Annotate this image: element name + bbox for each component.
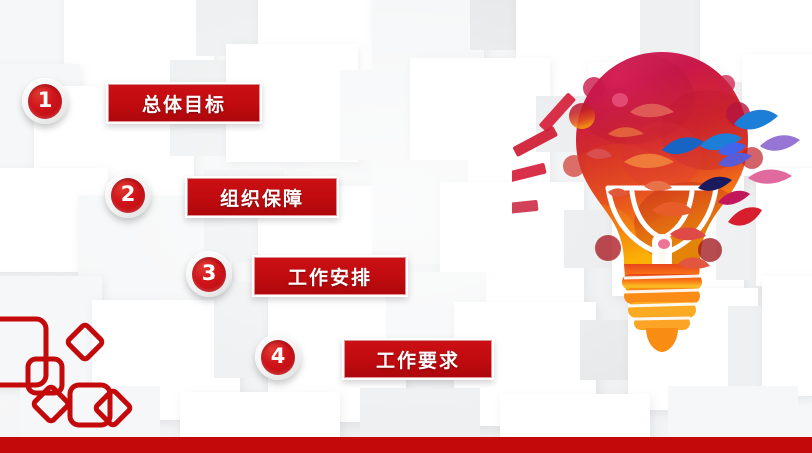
agenda-number-badge-2[interactable]: 2	[105, 172, 151, 218]
agenda-row-1[interactable]: 1 总体目标	[0, 78, 300, 124]
light-rays	[512, 92, 576, 215]
agenda-number-3: 3	[192, 257, 226, 292]
agenda-number-4: 4	[261, 340, 295, 375]
agenda-number-2: 2	[111, 178, 145, 213]
lightbulb-illustration	[512, 38, 812, 368]
agenda-number-1: 1	[28, 84, 62, 119]
agenda-number-badge-3[interactable]: 3	[186, 251, 232, 297]
agenda-number-badge-1[interactable]: 1	[22, 78, 68, 124]
agenda-label-4: 工作要求	[344, 340, 492, 378]
bottom-accent-bar	[0, 437, 812, 453]
agenda-row-3[interactable]: 3 工作安排	[0, 251, 450, 297]
agenda-label-2: 组织保障	[187, 178, 337, 216]
agenda-row-2[interactable]: 2 组织保障	[0, 172, 380, 218]
corner-decoration	[0, 307, 150, 437]
slide-canvas: 1 总体目标 2 组织保障 3 工作安排 4 工作要求	[0, 0, 812, 453]
agenda-banner-1[interactable]: 总体目标	[106, 82, 262, 124]
agenda-label-3: 工作安排	[254, 257, 406, 295]
agenda-banner-4[interactable]: 工作要求	[342, 338, 494, 380]
agenda-number-badge-4[interactable]: 4	[255, 334, 301, 380]
agenda-banner-3[interactable]: 工作安排	[252, 255, 408, 297]
deco-diamond-right	[95, 390, 132, 427]
agenda-label-1: 总体目标	[108, 84, 260, 122]
deco-square-large	[0, 319, 46, 385]
deco-diamond-top	[67, 324, 104, 361]
agenda-banner-2[interactable]: 组织保障	[185, 176, 339, 218]
bulb-base	[622, 264, 702, 352]
